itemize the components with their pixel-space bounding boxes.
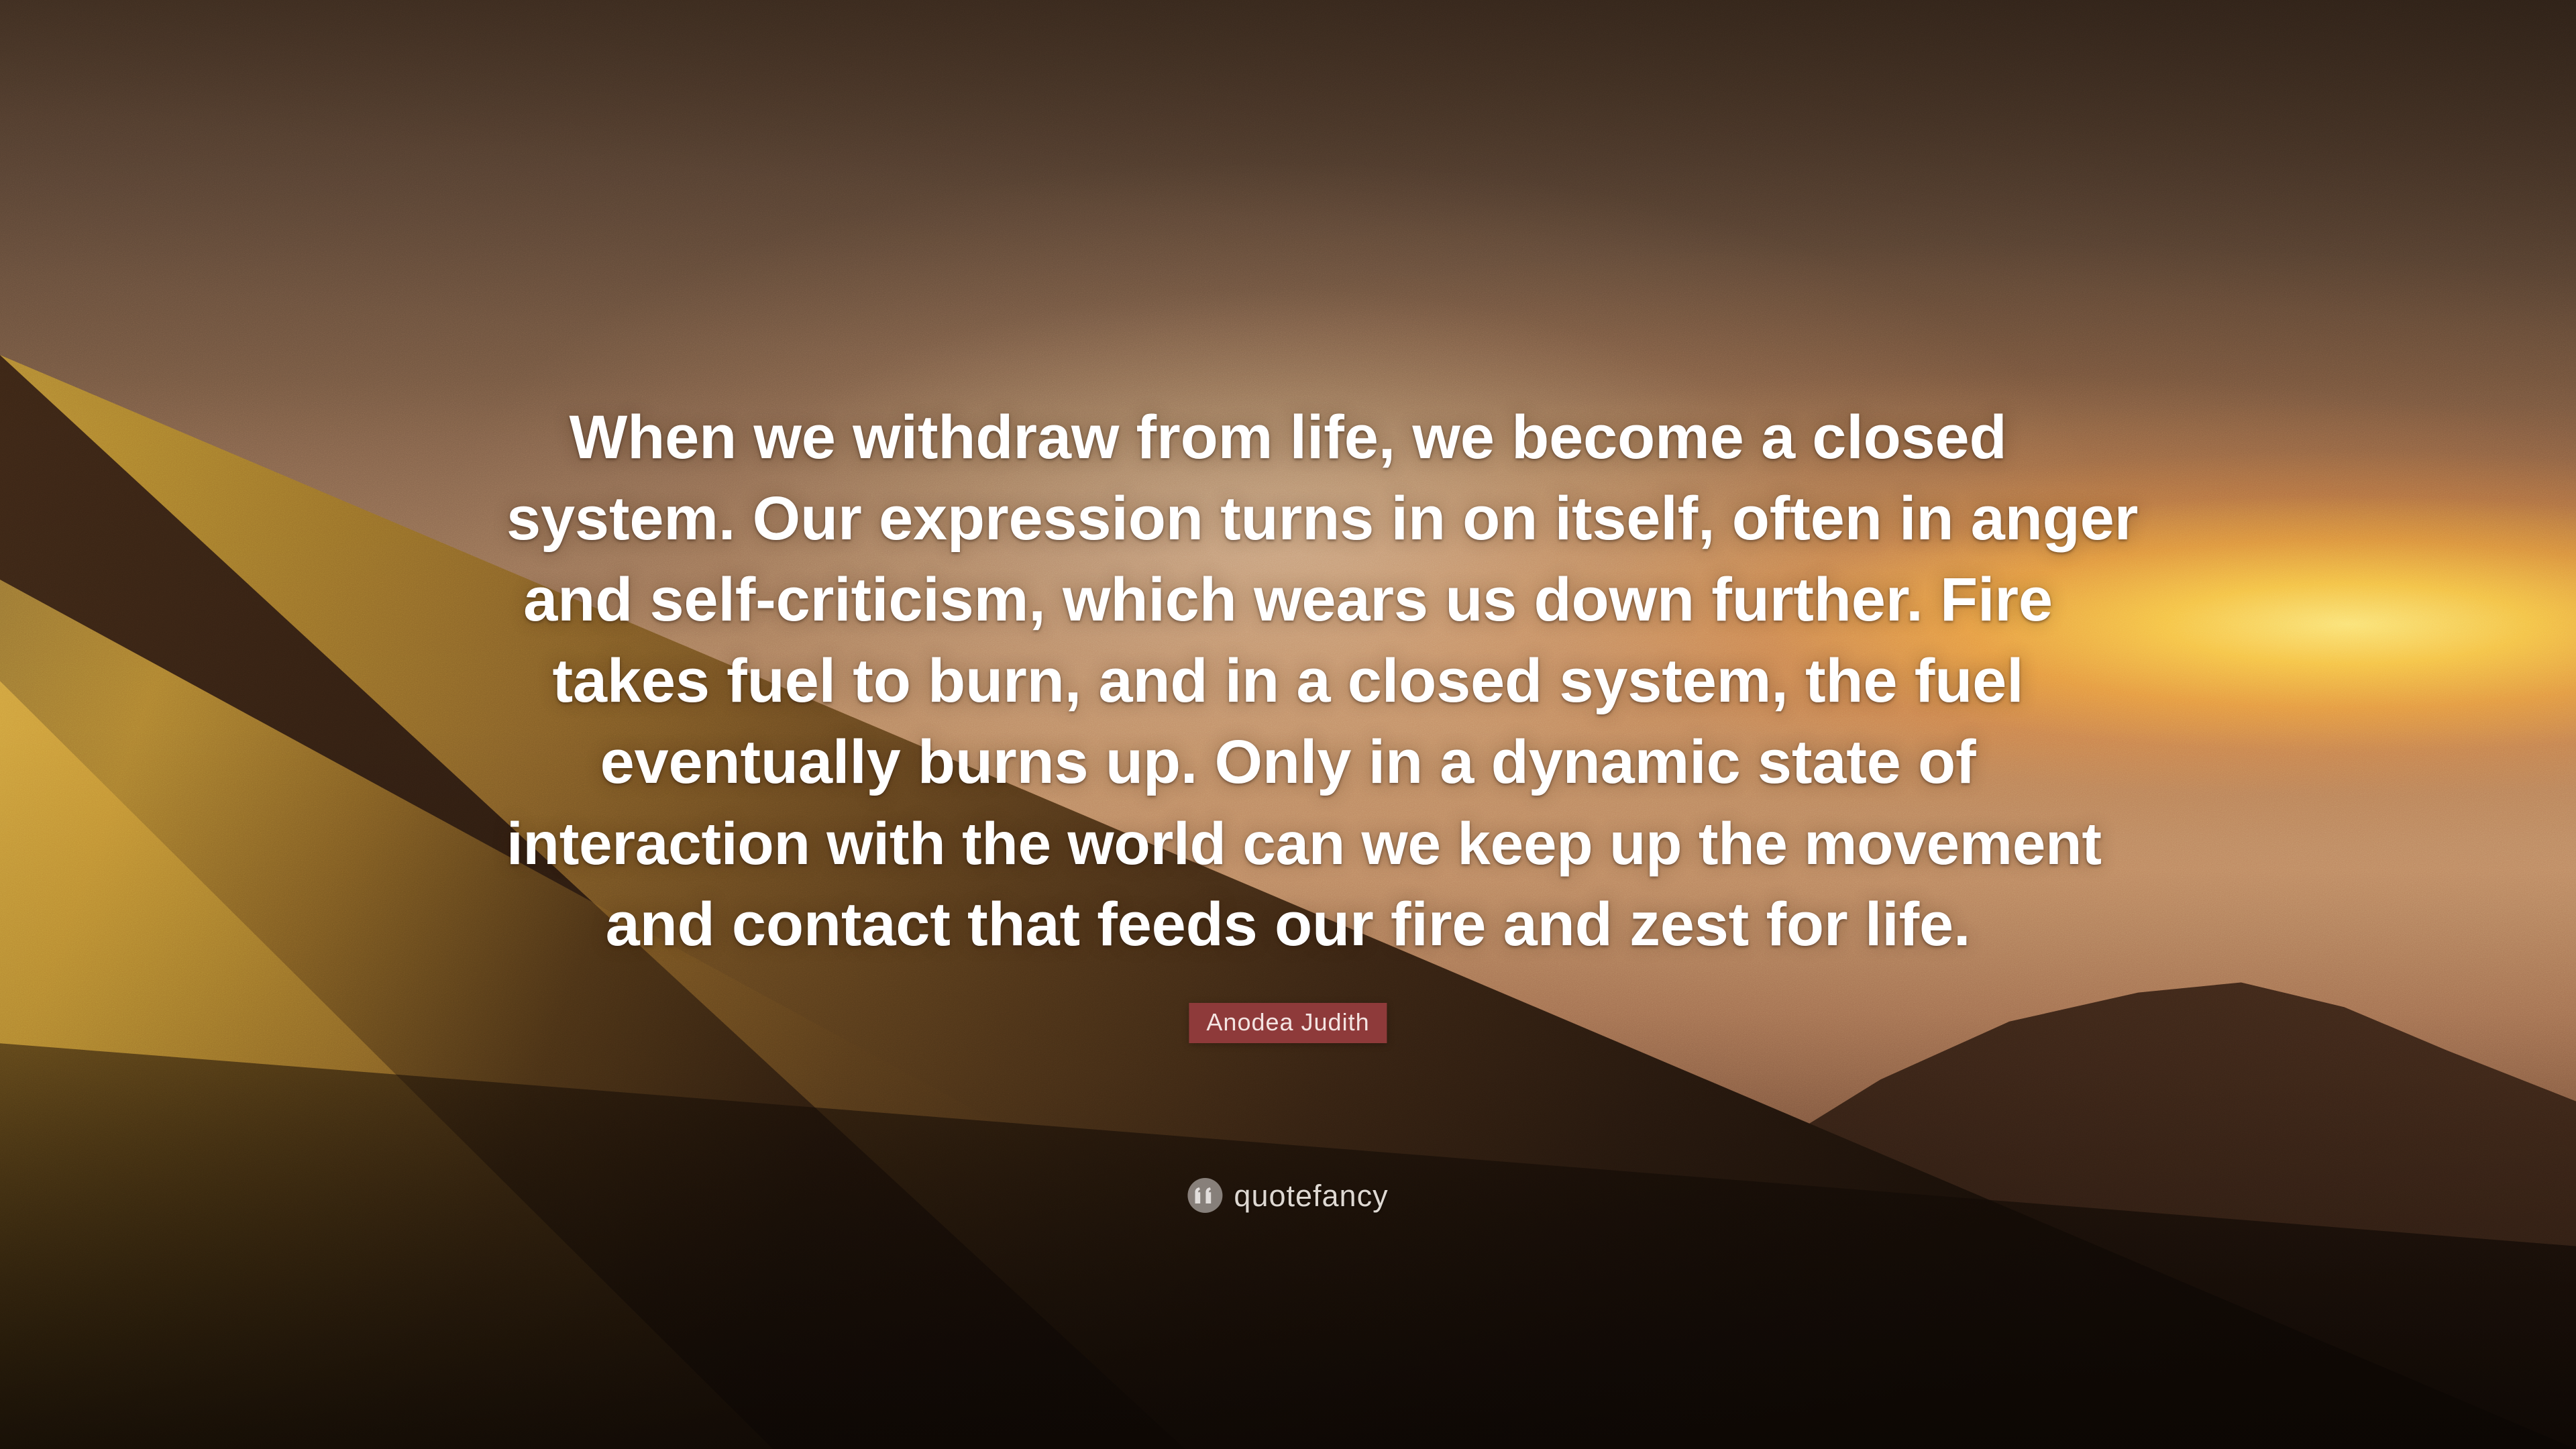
quote-line: takes fuel to burn, and in a closed syst… [506, 641, 2070, 722]
quote-line: and contact that feeds our fire and zest… [506, 884, 2070, 965]
watermark-brand-text: quotefancy [1234, 1181, 1388, 1211]
quotefancy-watermark: quotefancy [1187, 1178, 1388, 1213]
double-quote-icon [1187, 1178, 1222, 1213]
quote-line: eventually burns up. Only in a dynamic s… [506, 722, 2070, 803]
quote-line: system. Our expression turns in on itsel… [506, 478, 2070, 559]
author-badge: Anodea Judith [1189, 1003, 1387, 1043]
poster-content: When we withdraw from life, we become a … [0, 0, 2576, 1449]
quote-text-block: When we withdraw from life, we become a … [506, 397, 2070, 965]
quote-line: When we withdraw from life, we become a … [506, 397, 2070, 478]
quote-line: and self-criticism, which wears us down … [506, 559, 2070, 641]
quote-poster: When we withdraw from life, we become a … [0, 0, 2576, 1449]
quote-line: interaction with the world can we keep u… [506, 803, 2070, 884]
attribution: Anodea Judith [1189, 1003, 1387, 1043]
